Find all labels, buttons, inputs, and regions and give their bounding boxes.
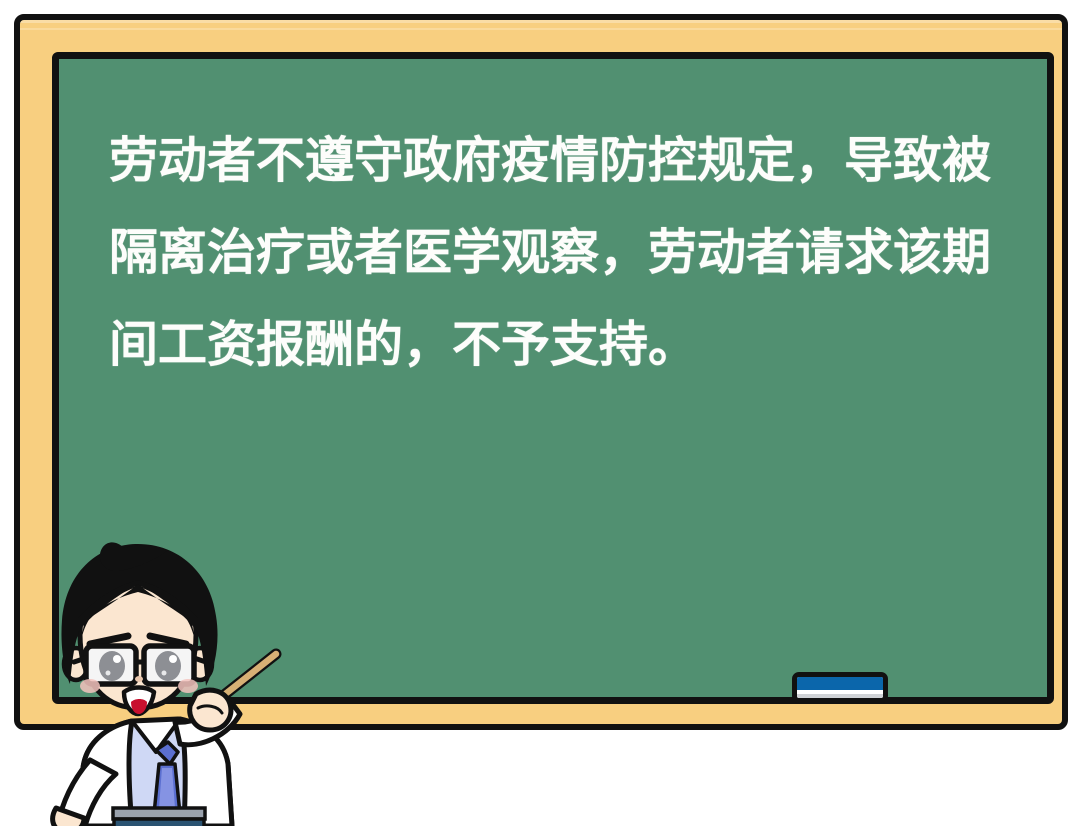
eraser-gray-band (797, 694, 883, 698)
right-blush (178, 679, 198, 693)
eraser-blue-band (797, 677, 883, 690)
nose (135, 676, 143, 682)
cartoon-teacher (28, 536, 318, 826)
chalkboard-eraser[interactable] (792, 672, 888, 703)
belt-and-pants (113, 808, 205, 826)
left-blush (80, 679, 100, 693)
right-arm-raised (175, 690, 240, 745)
chalkboard-text: 劳动者不遵守政府疫情防控规定，导致被隔离治疗或者医学观察，劳动者请求该期间工资报… (109, 115, 1029, 391)
mouth (124, 688, 154, 715)
